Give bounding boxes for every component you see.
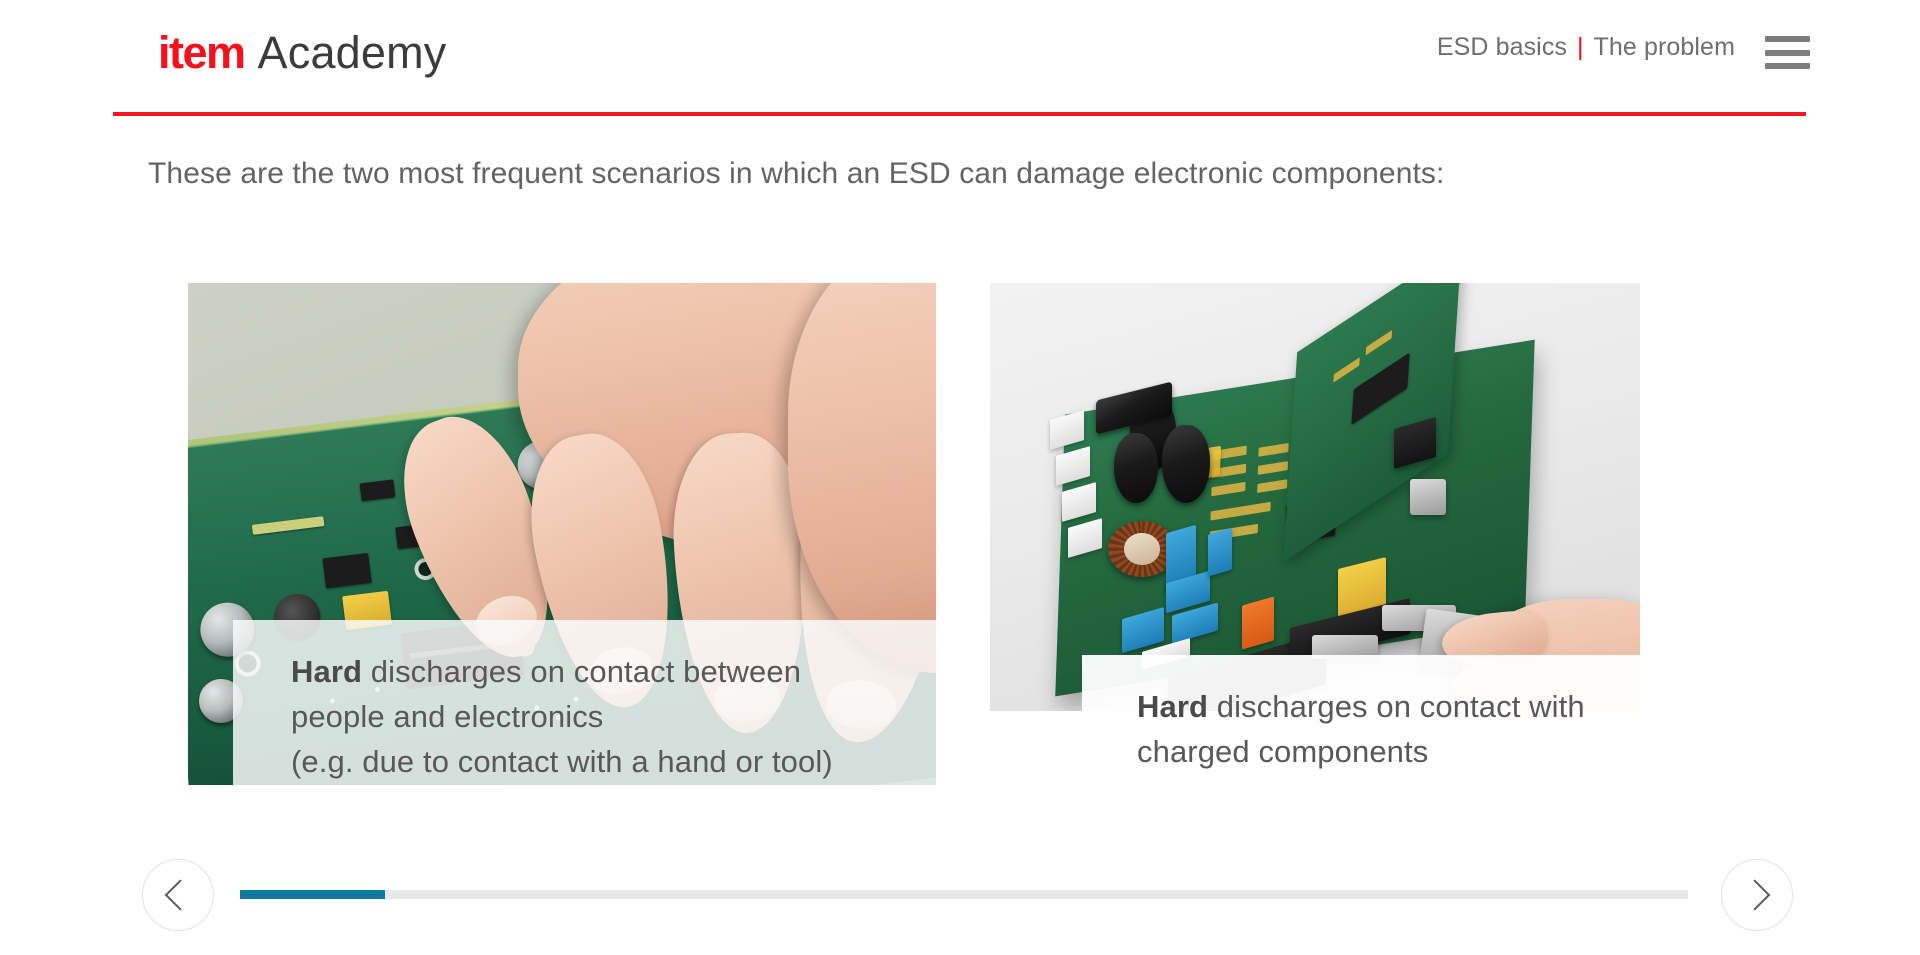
relay: [1208, 528, 1232, 577]
card-left-caption-line3: (e.g. due to contact with a hand or tool…: [291, 739, 936, 784]
carousel-prev-button[interactable]: [142, 859, 214, 931]
chevron-left-icon: [165, 879, 196, 910]
carousel-next-button[interactable]: [1721, 859, 1793, 931]
carousel-progress-track[interactable]: [240, 890, 1688, 899]
scenario-card-left[interactable]: Hard discharges on contact between peopl…: [188, 283, 936, 785]
usb-port: [1410, 479, 1446, 515]
capacitor-orange: [1242, 596, 1274, 649]
scenario-card-right[interactable]: [990, 283, 1640, 711]
carousel-progress-fill: [240, 890, 385, 899]
card-left-caption: Hard discharges on contact between peopl…: [233, 620, 936, 785]
chevron-right-icon: [1739, 879, 1770, 910]
page-root: item Academy ESD basics | The problem Th…: [0, 0, 1920, 955]
capacitor: [1162, 425, 1210, 503]
card-right-caption-line2: charged components: [1137, 729, 1682, 774]
dsub-port: [1312, 635, 1378, 659]
card-left-caption-rest: discharges on contact between: [362, 654, 801, 689]
capacitor: [1114, 433, 1158, 503]
card-left-caption-line2: people and electronics: [291, 694, 936, 739]
scenario-cards: Hard discharges on contact between peopl…: [0, 0, 1920, 955]
card-left-caption-bold: Hard: [291, 654, 362, 689]
photo-pcb-with-connector: [990, 283, 1640, 711]
